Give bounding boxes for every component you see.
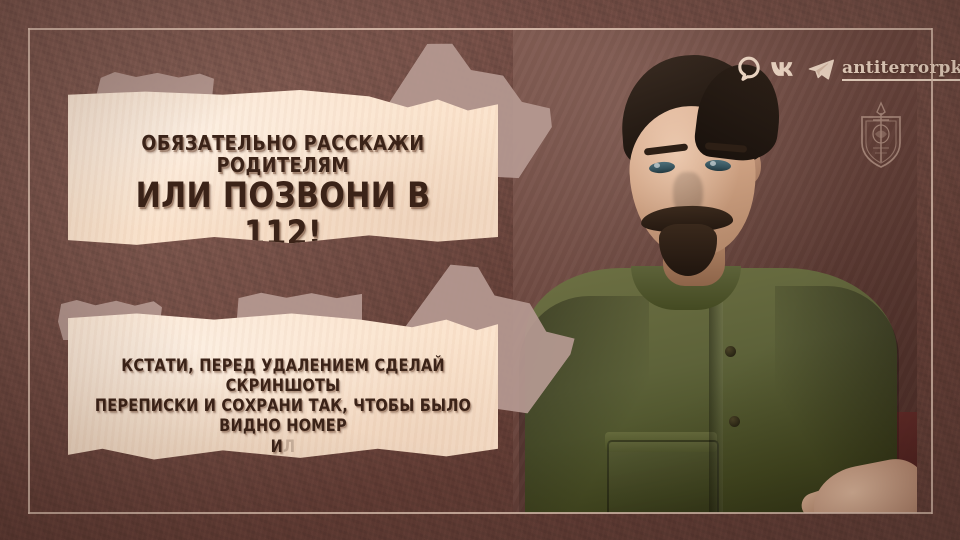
tunic-placket <box>709 280 723 513</box>
tunic-button-lower <box>729 416 740 427</box>
headline-card: Обязательно расскажи родителям или позво… <box>68 90 498 248</box>
frame-border-left <box>28 28 30 514</box>
brand-bar[interactable]: antiterrorpk <box>736 56 960 82</box>
vk-icon[interactable] <box>770 59 800 79</box>
body-line-3-ghost-letter: л <box>283 437 295 456</box>
headline-line-2: или позвони в 112! <box>98 178 468 254</box>
frame-border-right <box>931 28 933 514</box>
tunic-button-upper <box>725 346 736 357</box>
fsb-shield-emblem <box>855 100 907 170</box>
headline-line-1: Обязательно расскажи родителям <box>98 132 468 176</box>
brand-handle[interactable]: antiterrorpk <box>842 58 960 81</box>
odnoklassniki-icon[interactable] <box>736 56 762 82</box>
body-line-3-text: и <box>271 437 283 456</box>
body-line-2: переписки и сохрани так, чтобы было видн… <box>94 396 472 436</box>
tunic-chest-pocket <box>607 440 719 513</box>
video-stage: Обязательно расскажи родителям или позво… <box>0 0 960 540</box>
body-card: Кстати, перед удалением сделай скриншоты… <box>68 312 498 464</box>
body-line-1: Кстати, перед удалением сделай скриншоты <box>94 356 472 396</box>
body-line-3-partial: ил <box>94 437 472 457</box>
eye-highlight-right <box>710 161 716 166</box>
eye-highlight-left <box>654 163 660 168</box>
telegram-icon[interactable] <box>808 58 834 80</box>
